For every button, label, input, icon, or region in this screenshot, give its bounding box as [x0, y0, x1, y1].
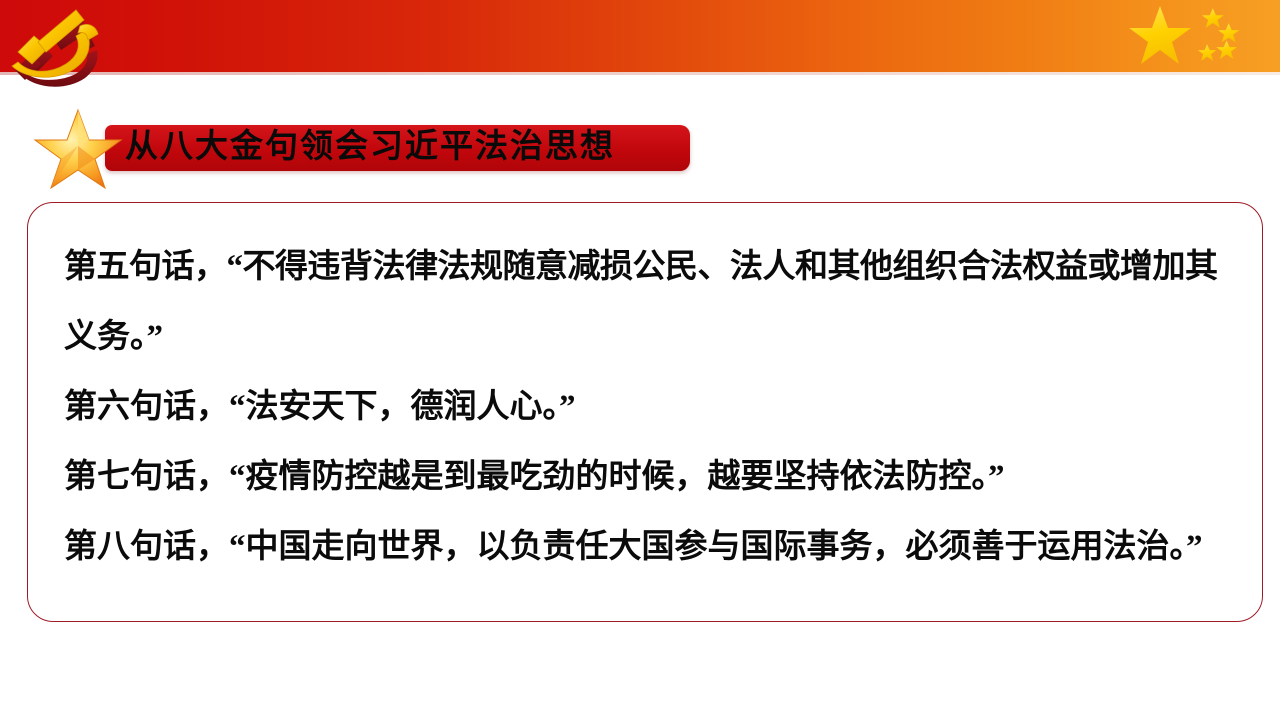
top-banner: [0, 0, 1280, 72]
quote-line-5-part2: 义务。”: [64, 302, 1244, 372]
quote-line-8: 第八句话，“中国走向世界，以负责任大国参与国际事务，必须善于运用法治。”: [64, 512, 1244, 582]
quote-line-5-part1: 第五句话，“不得违背法律法规随意减损公民、法人和其他组织合法权益或增加其: [64, 232, 1244, 302]
content-text-block: 第五句话，“不得违背法律法规随意减损公民、法人和其他组织合法权益或增加其 义务。…: [64, 232, 1244, 582]
gold-star-icon: [32, 104, 124, 192]
party-hammer-sickle-icon: [2, 0, 124, 92]
quote-line-6: 第六句话，“法安天下，德润人心。”: [64, 372, 1244, 442]
slide-canvas: 从八大金句领会习近平法治思想 第五句话，“不得违背法律法规随意减损公民、法人和其…: [0, 0, 1280, 720]
page-title: 从八大金句领会习近平法治思想: [125, 125, 685, 171]
quote-line-7: 第七句话，“疫情防控越是到最吃劲的时候，越要坚持依法防控。”: [64, 442, 1244, 512]
china-flag-stars-icon: [1120, 2, 1266, 72]
top-banner-shadow: [0, 72, 1280, 75]
